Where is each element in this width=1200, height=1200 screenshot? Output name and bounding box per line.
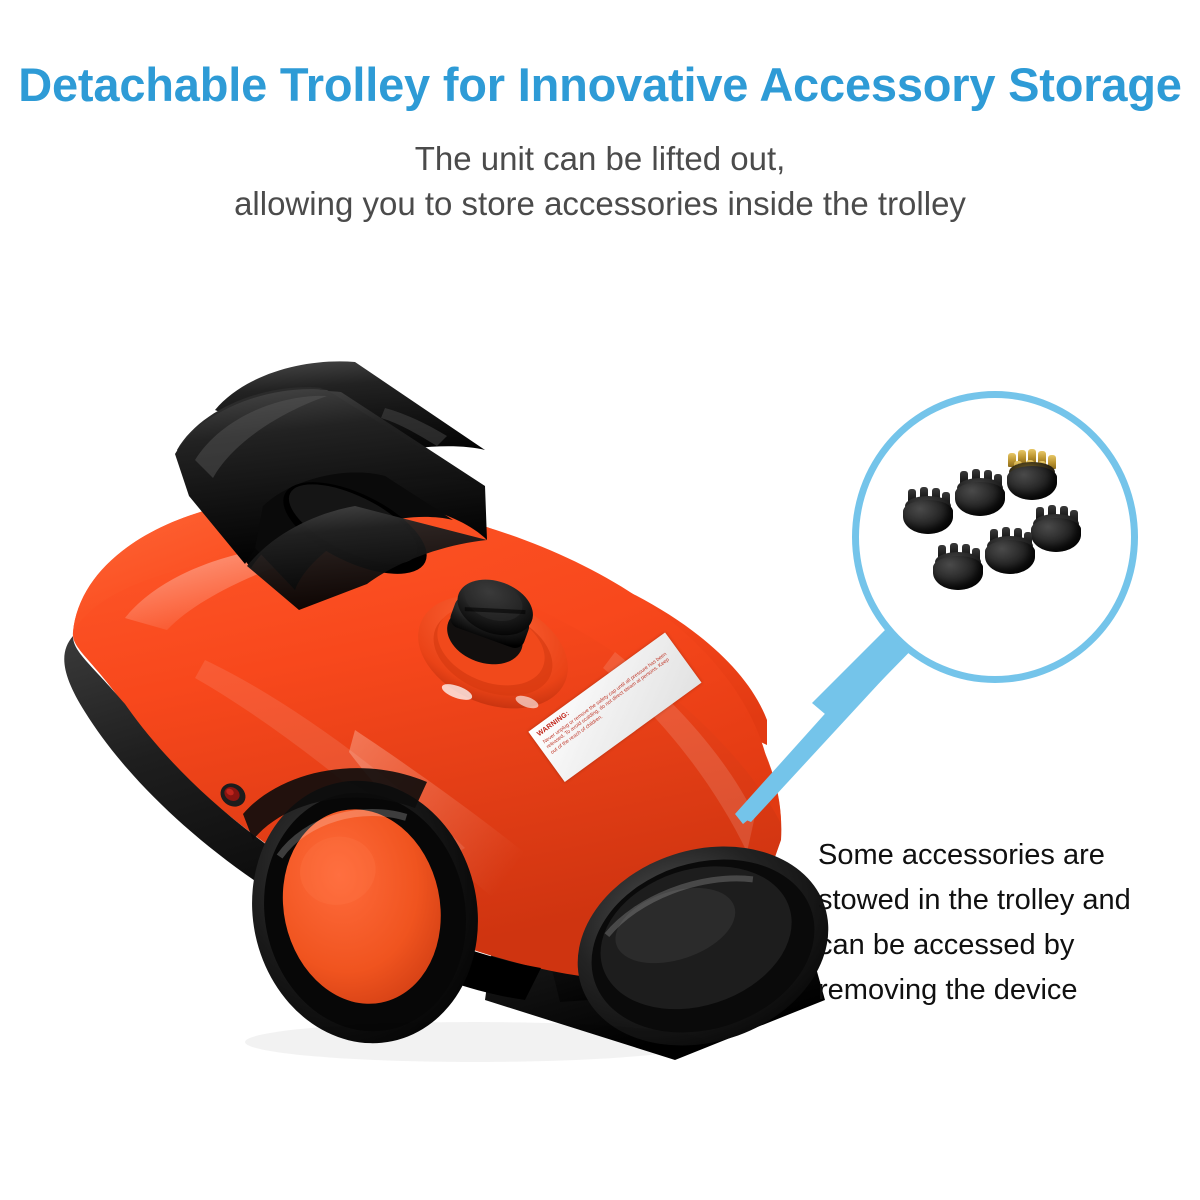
nozzle-brush-black-4	[982, 527, 1038, 577]
accessory-magnifier-inset	[852, 391, 1138, 683]
subtitle: The unit can be lifted out, allowing you…	[0, 136, 1200, 226]
callout-line-2: stowed in the trolley and	[818, 878, 1148, 923]
nozzle-brush-black-2	[952, 469, 1008, 519]
nozzle-brush-brass	[1004, 453, 1060, 503]
subtitle-line-1: The unit can be lifted out,	[0, 136, 1200, 181]
page-title: Detachable Trolley for Innovative Access…	[0, 57, 1200, 112]
callout-line-4: removing the device	[818, 968, 1148, 1013]
callout-line-3: can be accessed by	[818, 923, 1148, 968]
subtitle-line-2: allowing you to store accessories inside…	[0, 181, 1200, 226]
product-feature-image: Detachable Trolley for Innovative Access…	[0, 0, 1200, 1200]
nozzle-brush-black-5	[930, 543, 986, 593]
callout-line-1: Some accessories are	[818, 833, 1148, 878]
callout-description: Some accessories are stowed in the troll…	[818, 833, 1148, 1013]
nozzle-brush-black-1	[900, 487, 956, 537]
